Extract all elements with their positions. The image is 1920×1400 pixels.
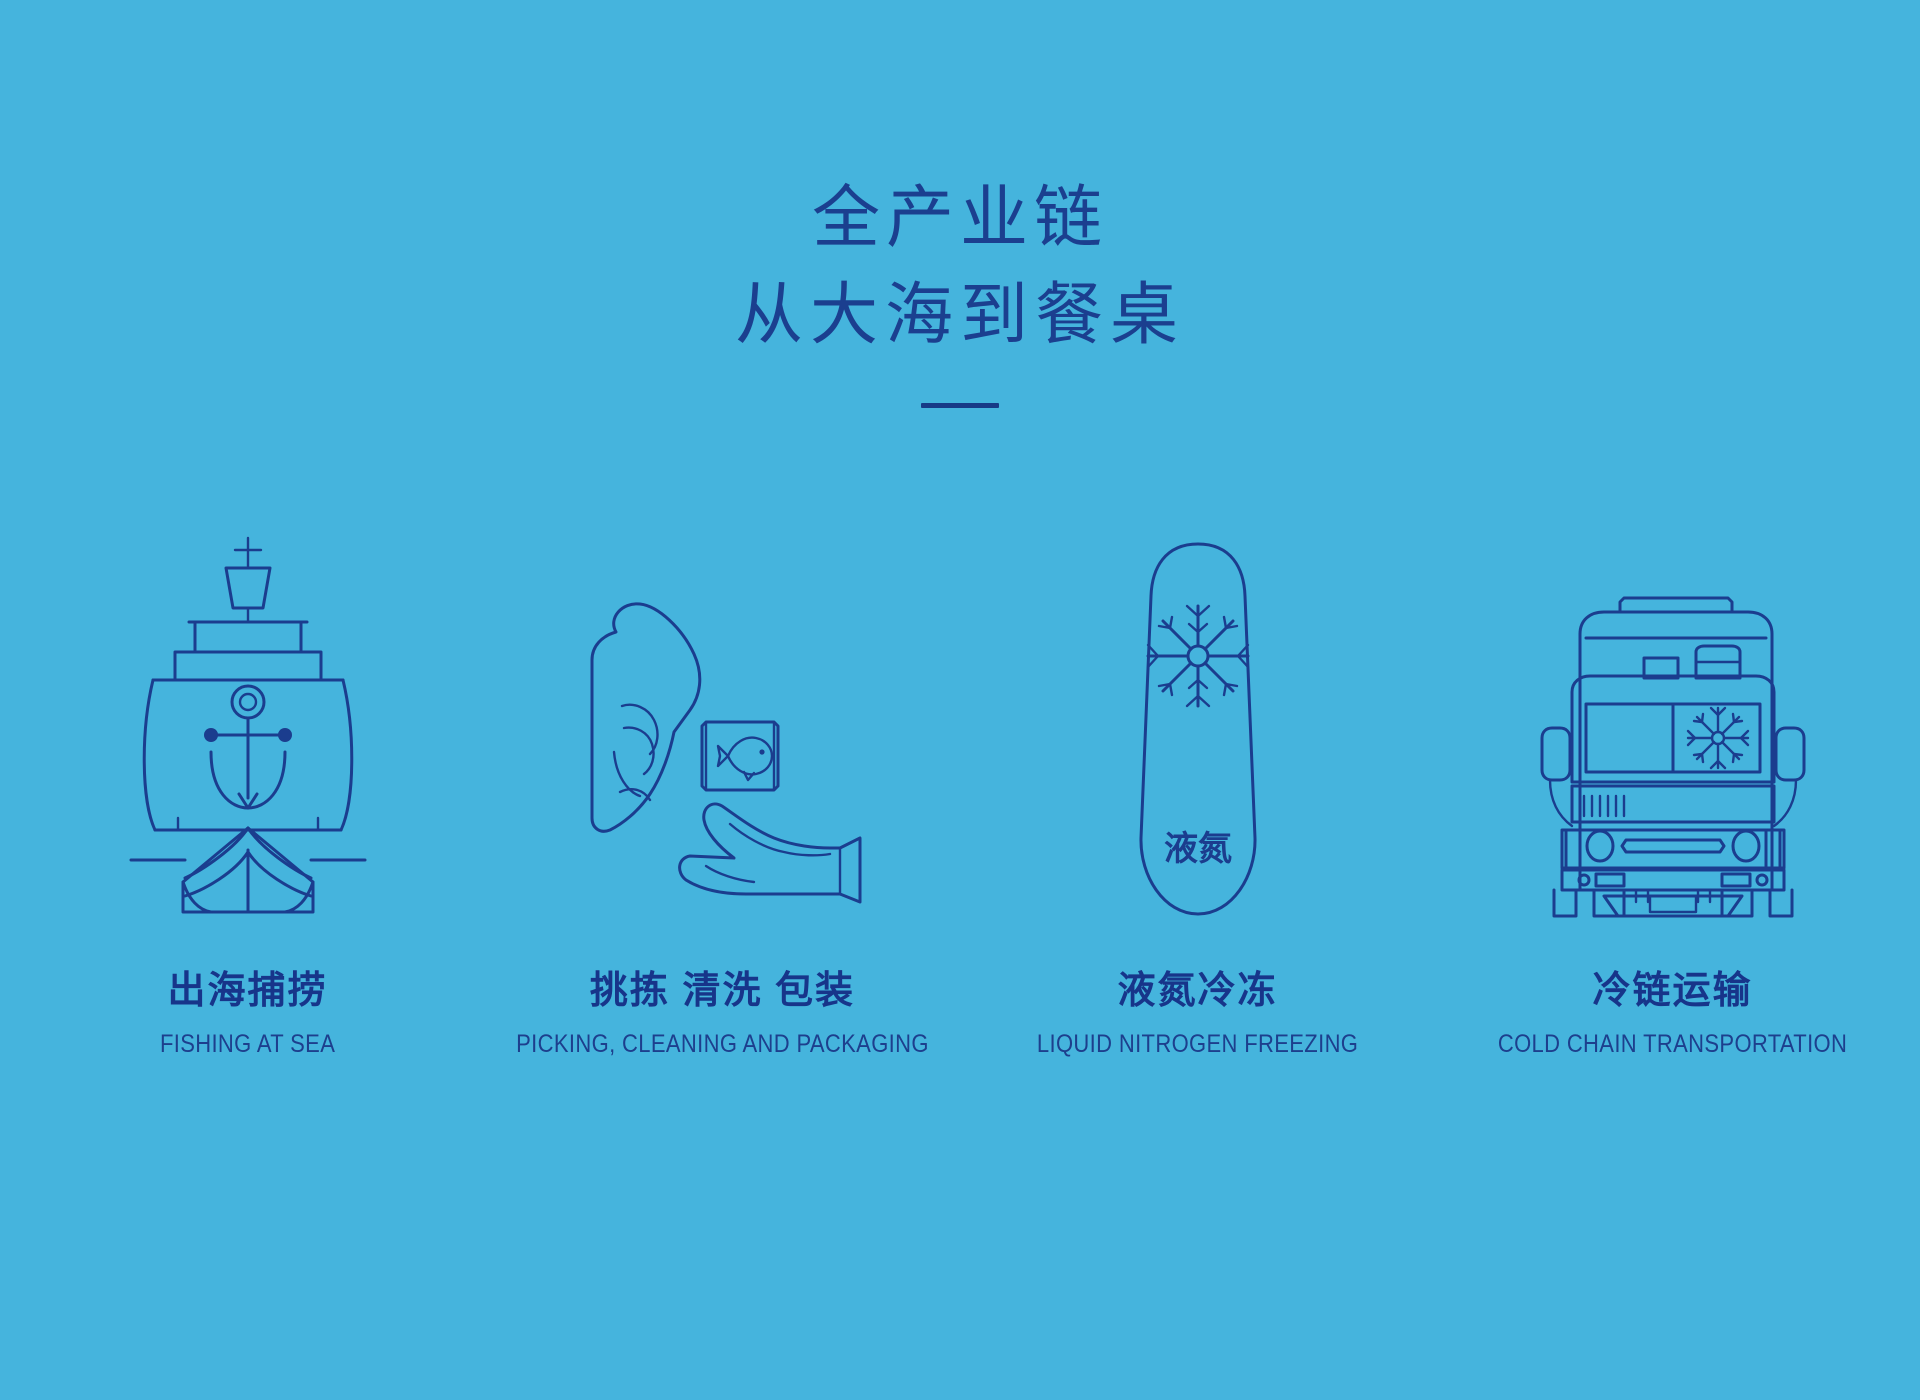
- snowflake-icon: [1688, 708, 1748, 768]
- step-label-en: FISHING AT SEA: [160, 1030, 335, 1059]
- tank-label-text: 液氮: [1164, 830, 1232, 868]
- step-picking-cleaning-packaging[interactable]: 挑拣 清洗 包装 PICKING, CLEANING AND PACKAGING: [485, 520, 960, 1059]
- title-divider: [921, 403, 999, 408]
- step-labels: 冷链运输 COLD CHAIN TRANSPORTATION: [1474, 968, 1871, 1059]
- step-label-en: PICKING, CLEANING AND PACKAGING: [516, 1030, 929, 1059]
- refrigerated-truck-icon: [1528, 520, 1818, 920]
- liquid-nitrogen-tank-icon: 液氮: [1113, 520, 1283, 920]
- step-label-cn: 挑拣 清洗 包装: [488, 968, 957, 1016]
- step-cold-chain-transportation[interactable]: 冷链运输 COLD CHAIN TRANSPORTATION: [1435, 520, 1910, 1059]
- hands-with-packaged-fish-icon: [578, 520, 868, 920]
- step-label-cn: 液氮冷冻: [1015, 968, 1380, 1016]
- fishing-boat-with-anchor-icon: [123, 520, 373, 920]
- step-label-cn: 出海捕捞: [148, 968, 347, 1016]
- step-labels: 挑拣 清洗 包装 PICKING, CLEANING AND PACKAGING: [488, 968, 957, 1059]
- step-label-en: LIQUID NITROGEN FREEZING: [1037, 1030, 1358, 1059]
- process-steps-row: 出海捕捞 FISHING AT SEA: [0, 520, 1920, 1059]
- step-fishing-at-sea[interactable]: 出海捕捞 FISHING AT SEA: [10, 520, 485, 1059]
- step-liquid-nitrogen-freezing[interactable]: 液氮 液氮冷冻 LIQUID NITROGEN FREEZING: [960, 520, 1435, 1059]
- step-label-en: COLD CHAIN TRANSPORTATION: [1498, 1030, 1847, 1059]
- heading-block: 全产业链 从大海到餐桌: [0, 170, 1920, 408]
- step-labels: 出海捕捞 FISHING AT SEA: [148, 968, 347, 1059]
- step-labels: 液氮冷冻 LIQUID NITROGEN FREEZING: [1015, 968, 1380, 1059]
- step-label-cn: 冷链运输: [1474, 968, 1871, 1016]
- snowflake-icon: [1148, 606, 1248, 706]
- page-title-line-1: 全产业链: [0, 170, 1920, 267]
- page-title-line-2: 从大海到餐桌: [0, 267, 1920, 364]
- infographic-page: 全产业链 从大海到餐桌: [0, 0, 1920, 1400]
